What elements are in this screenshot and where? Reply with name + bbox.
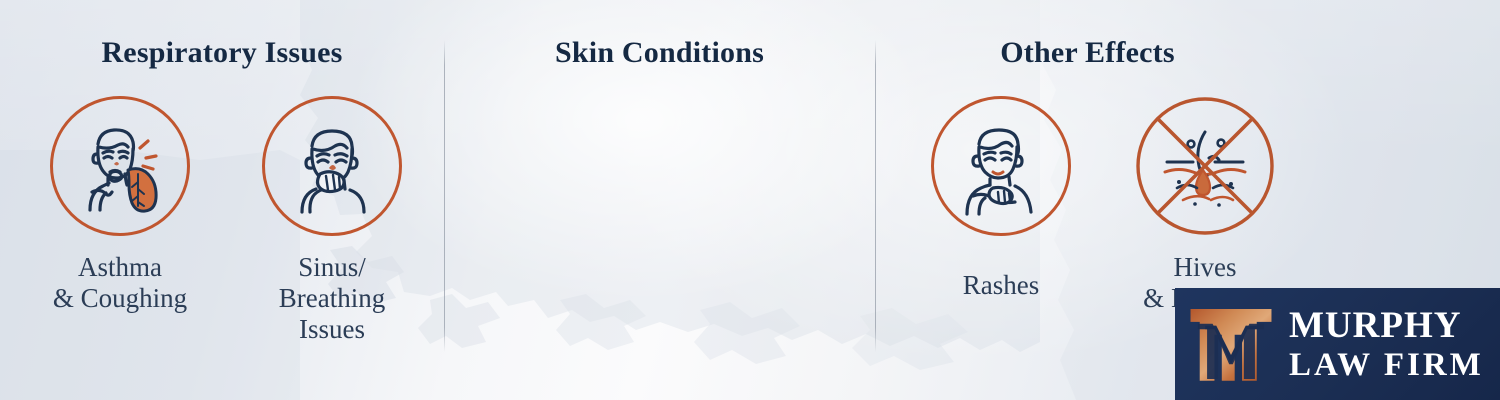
person-sneezing-tissue-icon [262,96,402,236]
caption-sinus: Sinus/ Breathing Issues [242,252,422,345]
section-heading-other: Other Effects [875,36,1500,70]
caption-asthma: Asthma & Coughing [30,252,210,314]
logo-wordmark: MURPHY LAW FIRM [1289,307,1484,382]
section-heading-respiratory: Respiratory Issues [0,36,444,70]
logo-line-law-firm: LAW FIRM [1289,349,1484,382]
murphy-law-firm-logo[interactable]: MURPHY LAW FIRM [1175,288,1500,400]
item-sinus: Sinus/ Breathing Issues [242,96,422,345]
item-asthma: Asthma & Coughing [30,96,210,314]
logo-m-monogram-icon [1185,298,1277,390]
section-heading-skin: Skin Conditions [444,36,875,70]
person-coughing-with-lungs-icon [50,96,190,236]
infographic-banner: Respiratory Issues [0,0,1500,400]
section-respiratory: Respiratory Issues [0,0,444,400]
section-skin: Skin Conditions [444,0,875,400]
logo-line-murphy: MURPHY [1289,307,1484,344]
